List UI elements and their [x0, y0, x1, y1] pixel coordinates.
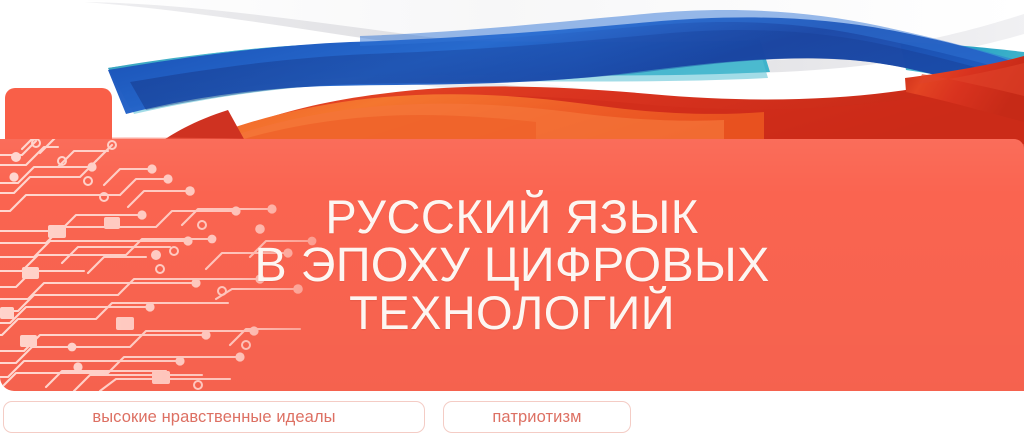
russian-flag-ribbon [0, 0, 1024, 150]
poster-canvas: РУССКИЙ ЯЗЫК В ЭПОХУ ЦИФРОВЫХ ТЕХНОЛОГИЙ… [0, 0, 1024, 448]
tag-list: высокие нравственные идеалы патриотизм [0, 401, 1024, 441]
red-accent-tab [5, 88, 112, 146]
tag-chip[interactable]: патриотизм [443, 401, 631, 433]
title-line-1: РУССКИЙ ЯЗЫК [0, 193, 1024, 241]
title-line-3: ТЕХНОЛОГИЙ [0, 289, 1024, 337]
page-title: РУССКИЙ ЯЗЫК В ЭПОХУ ЦИФРОВЫХ ТЕХНОЛОГИЙ [0, 193, 1024, 337]
title-line-2: В ЭПОХУ ЦИФРОВЫХ [0, 241, 1024, 289]
tag-chip[interactable]: высокие нравственные идеалы [3, 401, 425, 433]
